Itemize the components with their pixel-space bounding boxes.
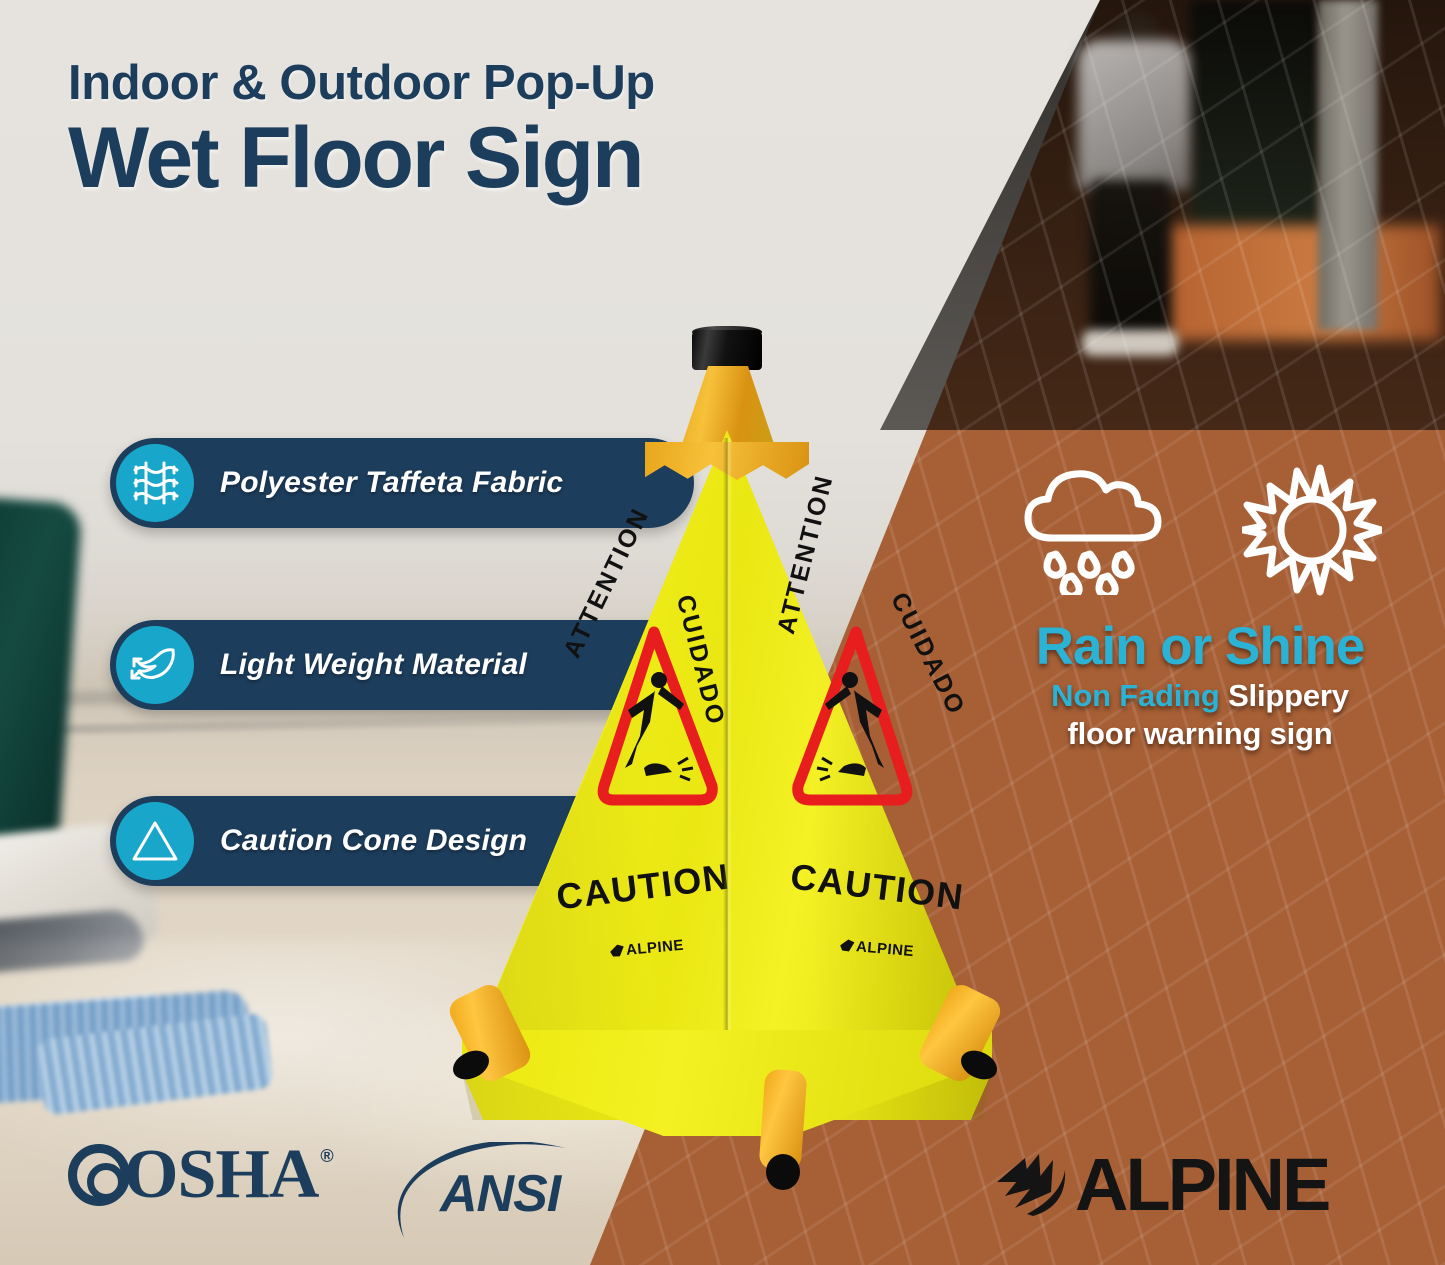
osha-logo: OSHA ® [68, 1140, 334, 1210]
weather-subline-1: Non Fading Slippery [1000, 677, 1400, 715]
headline-subtitle: Indoor & Outdoor Pop-Up [68, 58, 968, 109]
alpine-wordmark: ALPINE [1075, 1148, 1328, 1222]
rain-or-shine-title: Rain or Shine [1000, 616, 1400, 677]
weather-icon-row [1000, 460, 1400, 600]
cone-bottom-skirt [462, 1030, 992, 1136]
cone-black-cap [692, 330, 762, 370]
alpine-logo: ALPINE [995, 1148, 1328, 1222]
triangle-cone-icon [116, 802, 194, 880]
osha-wordmark: OSHA [124, 1140, 318, 1210]
ansi-logo: ANSI [378, 1142, 598, 1242]
alpine-leaf-mark [840, 939, 855, 952]
cone-right-attention: ATTENTION [772, 471, 840, 637]
cone-right-warning-triangle [788, 618, 918, 818]
rain-cloud-icon [1014, 460, 1174, 595]
rain-or-shine-block: Rain or Shine Non Fading Slippery floor … [1000, 460, 1400, 753]
cone-left-warning-triangle [592, 618, 722, 818]
alpine-leaf-icon [995, 1152, 1069, 1218]
ansi-wordmark: ANSI [440, 1164, 560, 1224]
osha-registered-mark: ® [320, 1146, 333, 1167]
non-fading-accent: Non Fading [1051, 678, 1219, 713]
product-infographic: Indoor & Outdoor Pop-Up Wet Floor Sign P… [0, 0, 1445, 1265]
headline-title: Wet Floor Sign [68, 115, 968, 203]
alpine-leaf-mark [610, 944, 625, 957]
headline-block: Indoor & Outdoor Pop-Up Wet Floor Sign [68, 58, 968, 203]
slippery-word: Slippery [1228, 678, 1349, 713]
fabric-weave-icon [116, 444, 194, 522]
cone-foot-front [766, 1154, 800, 1190]
osha-ring-icon [68, 1144, 130, 1206]
weather-subline-2: floor warning sign [1000, 715, 1400, 753]
feather-icon [116, 626, 194, 704]
cone-center-fold [723, 438, 732, 1128]
sun-icon [1242, 460, 1382, 600]
